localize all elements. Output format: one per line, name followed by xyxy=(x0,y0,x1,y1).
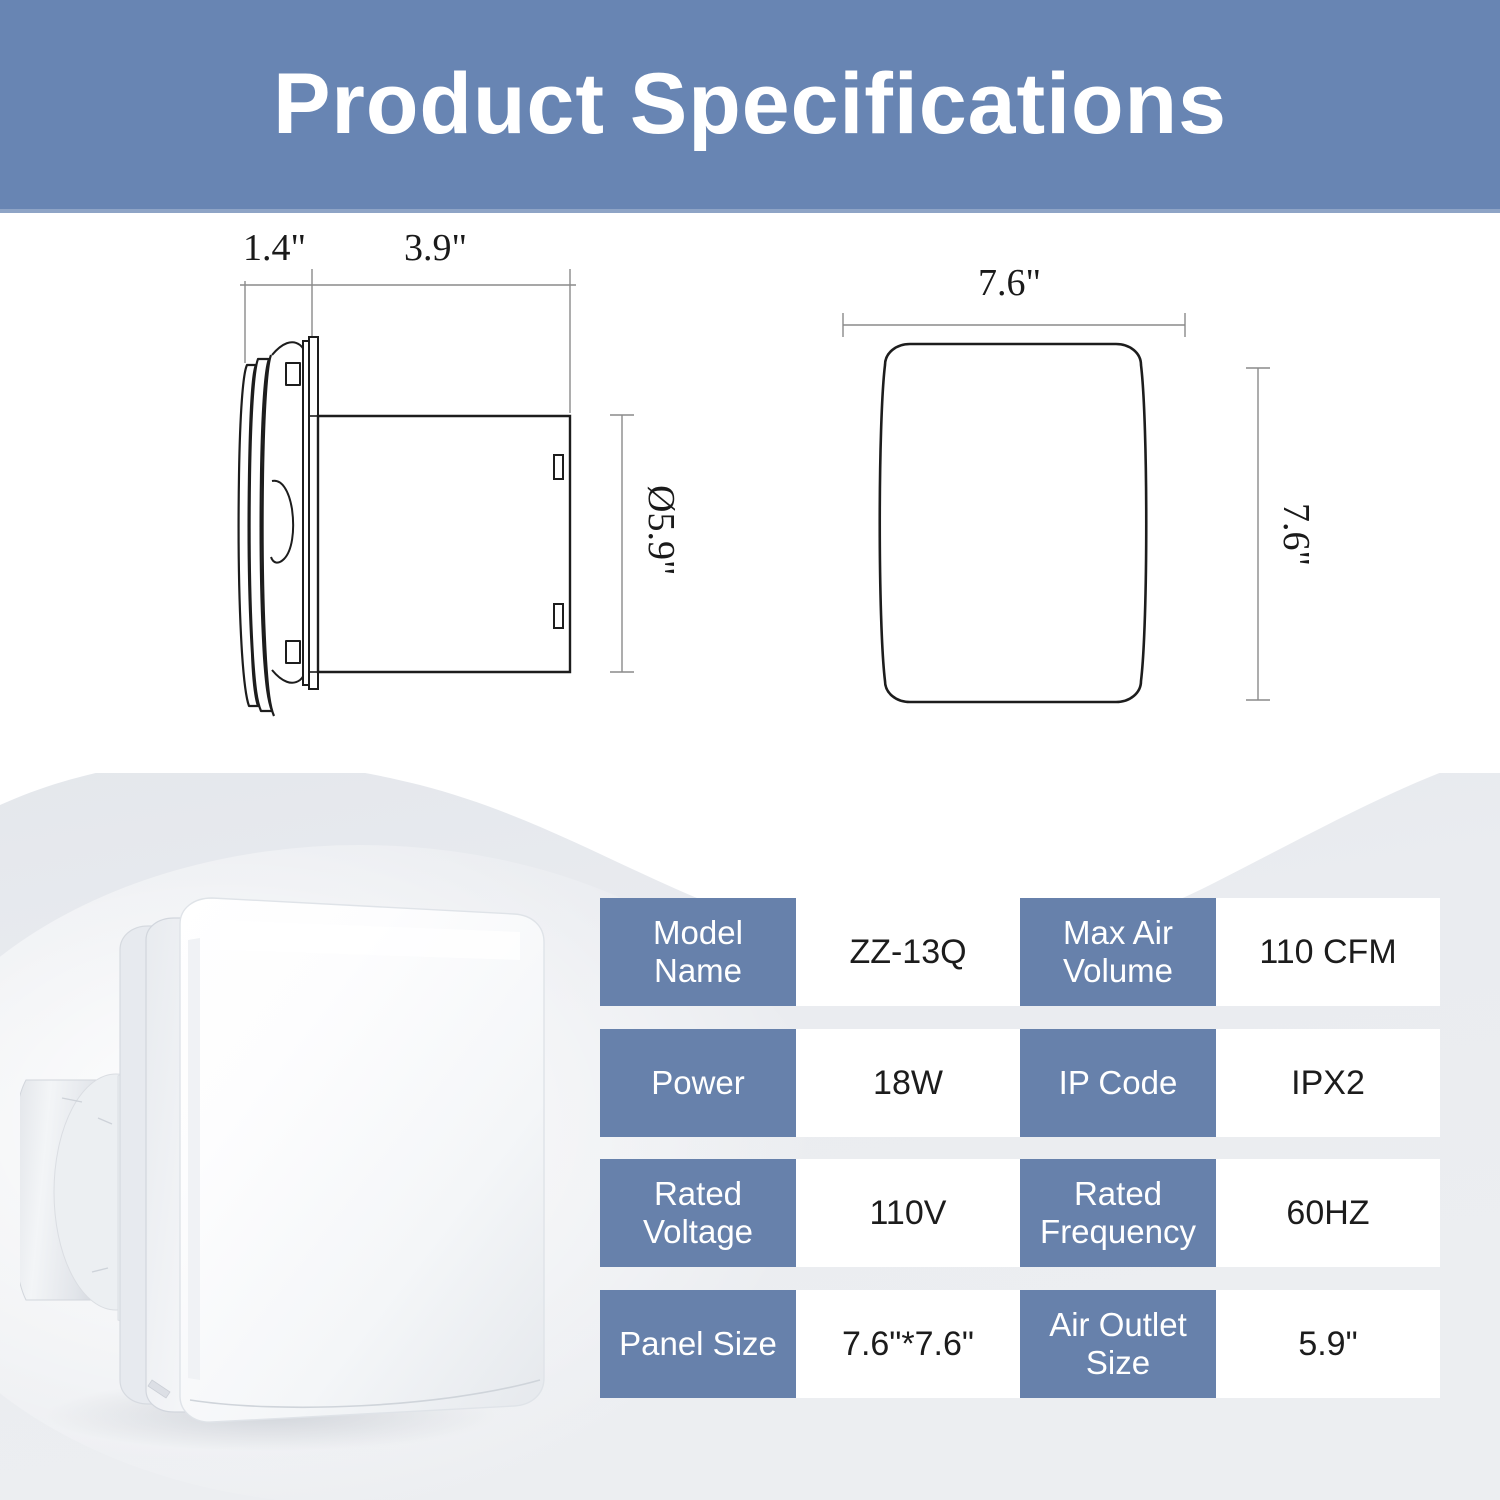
dimension-label-panel-height: 7.6" xyxy=(1274,503,1318,566)
spec-label-rated-voltage: Rated Voltage xyxy=(600,1159,796,1267)
product-specification-page: Product Specifications xyxy=(0,0,1500,1500)
dimension-label-outlet-diameter: Ø5.9" xyxy=(639,485,683,575)
specification-table: Model Name ZZ-13Q Max Air Volume 110 CFM… xyxy=(600,898,1440,1398)
spec-value-power: 18W xyxy=(796,1029,1020,1137)
spec-value-air-outlet-size: 5.9" xyxy=(1216,1290,1440,1398)
spec-label-model-name: Model Name xyxy=(600,898,796,1006)
spec-value-model-name: ZZ-13Q xyxy=(796,898,1020,1006)
product-photo xyxy=(20,880,590,1460)
spec-label-air-outlet-size: Air Outlet Size xyxy=(1020,1290,1216,1398)
dimension-label-body-depth: 3.9" xyxy=(404,226,467,270)
table-row: Rated Voltage 110V Rated Frequency 60HZ xyxy=(600,1159,1440,1267)
page-title: Product Specifications xyxy=(0,52,1500,156)
technical-drawings: 1.4" 3.9" Ø5.9" 7.6" 7.6" xyxy=(0,213,1500,773)
spec-value-max-air-volume: 110 CFM xyxy=(1216,898,1440,1006)
spec-label-ip-code: IP Code xyxy=(1020,1029,1216,1137)
table-row: Panel Size 7.6"*7.6" Air Outlet Size 5.9… xyxy=(600,1290,1440,1398)
spec-label-panel-size: Panel Size xyxy=(600,1290,796,1398)
table-row: Power 18W IP Code IPX2 xyxy=(600,1029,1440,1137)
table-row: Model Name ZZ-13Q Max Air Volume 110 CFM xyxy=(600,898,1440,1006)
spec-value-rated-frequency: 60HZ xyxy=(1216,1159,1440,1267)
spec-value-panel-size: 7.6"*7.6" xyxy=(796,1290,1020,1398)
spec-label-rated-frequency: Rated Frequency xyxy=(1020,1159,1216,1267)
front-view-drawing xyxy=(810,213,1430,773)
spec-label-max-air-volume: Max Air Volume xyxy=(1020,898,1216,1006)
dimension-label-panel-depth: 1.4" xyxy=(243,226,306,270)
spec-value-rated-voltage: 110V xyxy=(796,1159,1020,1267)
dimension-label-panel-width: 7.6" xyxy=(978,261,1041,305)
spec-value-ip-code: IPX2 xyxy=(1216,1029,1440,1137)
spec-label-power: Power xyxy=(600,1029,796,1137)
